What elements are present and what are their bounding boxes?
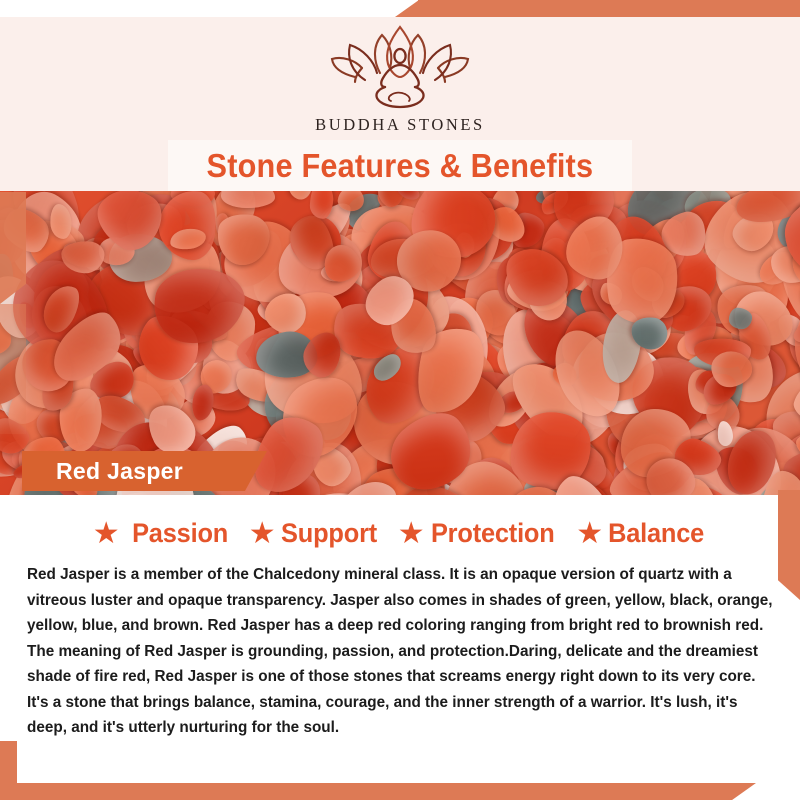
benefit-item: ★Passion [93,518,231,549]
page-title-band: Stone Features & Benefits [168,140,632,191]
infographic-page: BUDDHA STONES Stone Features & Benefits … [0,0,800,800]
benefit-label: Support [281,518,377,549]
benefit-item: ★Balance [576,518,707,549]
benefit-label: Balance [608,518,704,549]
benefits-row: ★Passion★Support★Protection★Balance [0,518,800,549]
star-icon: ★ [249,519,276,549]
bottom-accent-bar [0,783,728,800]
brand-logo: BUDDHA STONES [0,23,800,135]
benefit-item: ★Support [249,518,380,549]
bottom-left-accent-strip [0,741,17,783]
lotus-meditation-icon [325,23,475,111]
benefit-label: Protection [431,518,555,549]
page-title: Stone Features & Benefits [207,147,594,185]
stone-name: Red Jasper [56,458,183,485]
bottom-accent-diagonal [710,783,756,800]
benefit-item: ★Protection [398,518,558,549]
stone-photo-canvas [0,191,800,495]
top-accent-bar [418,0,800,17]
description-text: Red Jasper is a member of the Chalcedony… [27,562,779,741]
top-accent-diagonal [395,0,441,17]
brand-name: BUDDHA STONES [315,115,485,135]
left-accent-gradient [0,304,26,434]
stone-name-banner: Red Jasper [22,451,267,491]
stone-photo [0,191,800,495]
star-icon: ★ [93,519,120,549]
benefit-label: Passion [132,518,228,549]
star-icon: ★ [576,519,603,549]
star-icon: ★ [398,519,425,549]
